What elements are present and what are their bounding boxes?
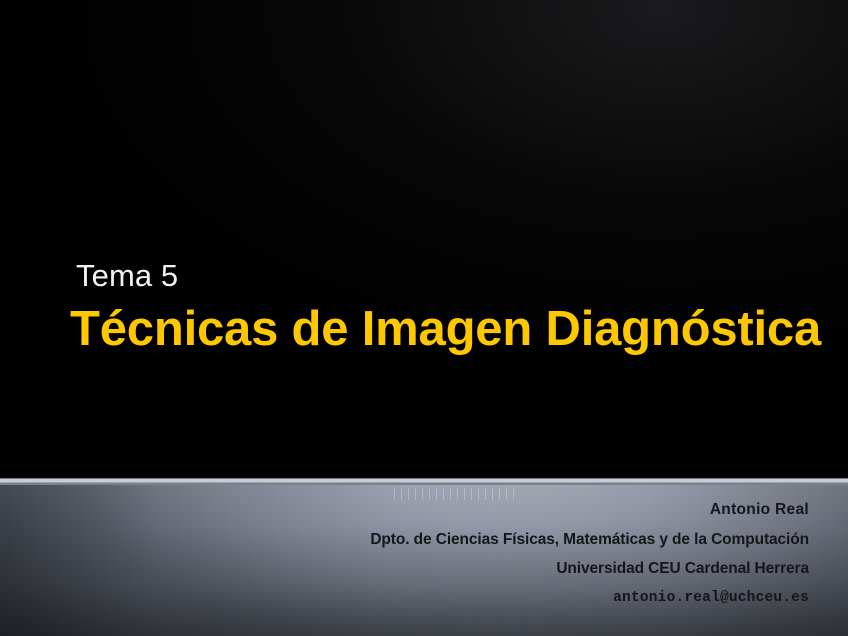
author-name: Antonio Real [370, 502, 809, 518]
slide-title: Técnicas de Imagen Diagnóstica [70, 302, 830, 357]
author-email: antonio.real@uchceu.es [370, 591, 809, 606]
author-department: Dpto. de Ciencias Físicas, Matemáticas y… [370, 532, 809, 548]
section-divider [0, 477, 848, 485]
presentation-slide: Tema 5 Técnicas de Imagen Diagnóstica An… [0, 0, 848, 636]
title-block: Tema 5 Técnicas de Imagen Diagnóstica [70, 258, 830, 357]
slide-dark-background: Tema 5 Técnicas de Imagen Diagnóstica [0, 0, 848, 477]
author-block: Antonio Real Dpto. de Ciencias Físicas, … [370, 502, 809, 605]
author-university: Universidad CEU Cardenal Herrera [370, 561, 809, 577]
slide-footer-panel: Antonio Real Dpto. de Ciencias Físicas, … [0, 485, 848, 636]
slide-eyebrow-label: Tema 5 [76, 258, 830, 294]
panel-speckle-artifact [394, 488, 514, 500]
